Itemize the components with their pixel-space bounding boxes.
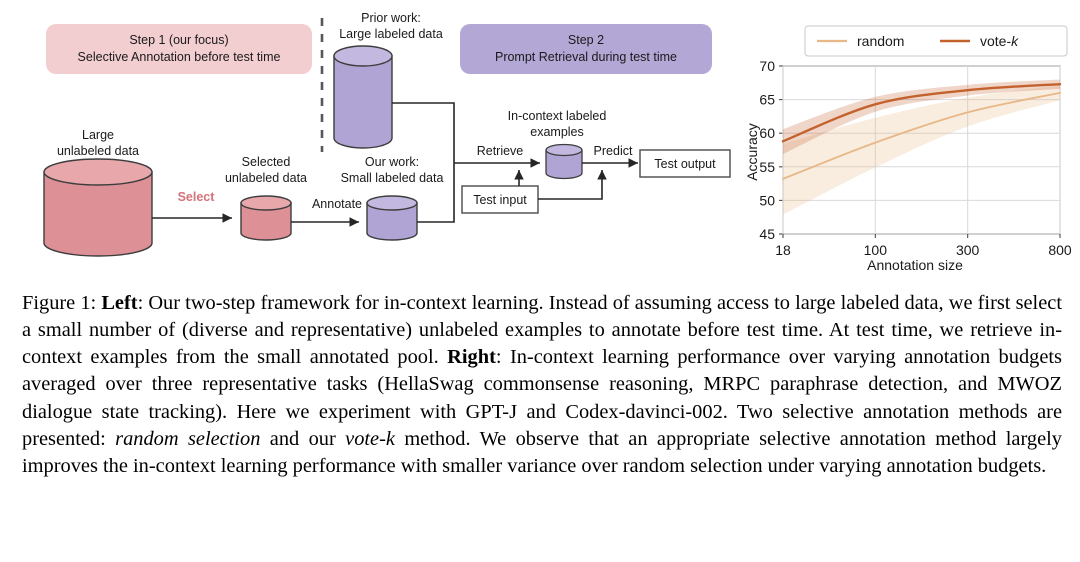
large-unlabeled-label-line2: unlabeled data <box>57 144 139 158</box>
x-tick-label: 300 <box>956 242 980 258</box>
y-tick-label: 60 <box>759 125 775 141</box>
y-tick-label: 65 <box>759 92 775 108</box>
selected-unlabeled-label-line1: Selected <box>242 155 291 169</box>
incontext-cylinder <box>546 145 582 179</box>
test-input-box: Test input <box>462 186 538 213</box>
prior-work-cylinder <box>334 46 392 148</box>
caption-italic-votek: vote-k <box>345 428 395 450</box>
step1-title-line1: Step 1 (our focus) <box>129 33 228 47</box>
selected-unlabeled-label-line2: unlabeled data <box>225 171 307 185</box>
incontext-label-line1: In-context labeled <box>508 109 607 123</box>
x-tick-label: 18 <box>775 242 791 258</box>
step2-header-box: Step 2 Prompt Retrieval during test time <box>460 24 712 74</box>
our-work-label-line2: Small labeled data <box>341 171 444 185</box>
selected-unlabeled-cylinder <box>241 196 291 240</box>
y-axis-label: Accuracy <box>744 123 760 181</box>
figure-page: Step 1 (our focus) Selective Annotation … <box>0 0 1080 562</box>
large-unlabeled-cylinder <box>44 159 152 256</box>
large-unlabeled-label-line1: Large <box>82 128 114 142</box>
legend-label-votek: vote-k <box>980 33 1019 49</box>
caption-left-bold: Left <box>101 292 137 314</box>
legend-label-random: random <box>857 33 904 49</box>
x-tick-label: 100 <box>864 242 888 258</box>
retrieve-label: Retrieve <box>477 144 524 158</box>
prior-work-label-line2: Large labeled data <box>339 27 443 41</box>
caption-italic-random-selection: random selection <box>115 428 260 450</box>
step1-header-box: Step 1 (our focus) Selective Annotation … <box>46 24 312 74</box>
incontext-label-line2: examples <box>530 125 584 139</box>
x-axis-label: Annotation size <box>867 257 963 273</box>
our-work-label-line1: Our work: <box>365 155 419 169</box>
caption-text-mid: and our <box>260 428 345 450</box>
y-tick-label: 70 <box>759 58 775 74</box>
x-tick-label: 800 <box>1048 242 1072 258</box>
caption-right-bold: Right <box>447 346 496 368</box>
figure-graphic: Step 1 (our focus) Selective Annotation … <box>0 0 1080 282</box>
chart-legend: random vote-k <box>805 26 1067 56</box>
caption-figure-number: Figure 1: <box>22 292 96 314</box>
our-work-cylinder <box>367 196 417 240</box>
y-tick-label: 50 <box>759 192 775 208</box>
test-output-label: Test output <box>654 157 716 171</box>
predict-label: Predict <box>594 144 633 158</box>
test-input-label: Test input <box>473 193 527 207</box>
framework-diagram: Step 1 (our focus) Selective Annotation … <box>0 0 740 282</box>
annotate-label: Annotate <box>312 197 362 211</box>
chart-plot-area: 45505560657018100300800 <box>759 58 1071 258</box>
step1-title-line2: Selective Annotation before test time <box>78 50 281 64</box>
y-tick-label: 55 <box>759 159 775 175</box>
test-output-box: Test output <box>640 150 730 177</box>
figure-caption: Figure 1: Left: Our two-step framework f… <box>22 290 1062 480</box>
select-label: Select <box>178 190 216 204</box>
y-tick-label: 45 <box>759 226 775 242</box>
step2-title-line2: Prompt Retrieval during test time <box>495 50 677 64</box>
prior-work-label-line1: Prior work: <box>361 11 421 25</box>
accuracy-line-chart: random vote-k Accuracy Annotation size 4… <box>735 4 1080 279</box>
step2-title-line1: Step 2 <box>568 33 604 47</box>
